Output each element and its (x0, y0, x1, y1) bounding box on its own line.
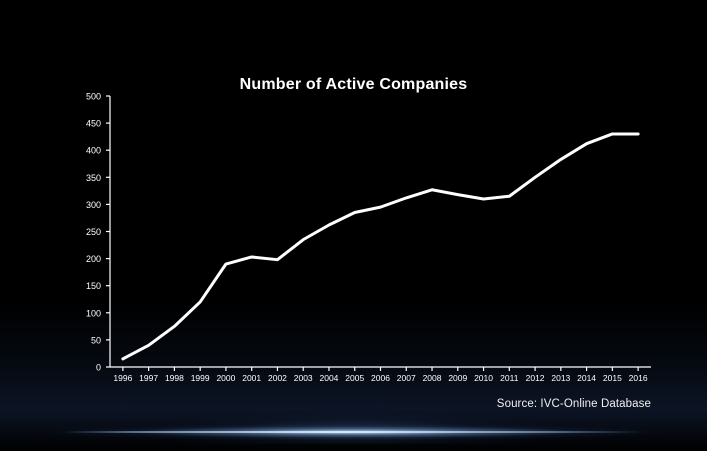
y-axis-tick-label: 50 (91, 335, 101, 345)
y-axis: 050100150200250300350400450500 (86, 92, 110, 373)
x-axis-tick-label: 1996 (113, 373, 132, 383)
x-axis: 1996199719981999200020012002200320042005… (110, 367, 651, 383)
x-axis-tick-label: 1998 (165, 373, 184, 383)
y-axis-tick-label: 250 (86, 227, 101, 237)
x-axis-tick-label: 2009 (448, 373, 467, 383)
slide-canvas: Number of Active Companies 0501001502002… (0, 0, 707, 451)
y-axis-tick-label: 100 (86, 308, 101, 318)
x-axis-tick-label: 2006 (371, 373, 390, 383)
series-line-active-companies (123, 134, 638, 359)
y-axis-tick-label: 450 (86, 119, 101, 129)
y-axis-tick-label: 150 (86, 281, 101, 291)
x-axis-tick-label: 2002 (268, 373, 287, 383)
x-axis-tick-label: 2011 (500, 373, 519, 383)
data-series-line (123, 134, 638, 359)
x-axis-tick-label: 2004 (320, 373, 339, 383)
x-axis-tick-label: 2001 (242, 373, 261, 383)
x-axis-tick-label: 2008 (423, 373, 442, 383)
x-axis-tick-label: 2003 (294, 373, 313, 383)
x-axis-tick-label: 2015 (603, 373, 622, 383)
y-axis-tick-label: 400 (86, 146, 101, 156)
x-axis-tick-label: 2005 (345, 373, 364, 383)
line-chart: 050100150200250300350400450500 199619971… (0, 0, 707, 451)
x-axis-tick-label: 1999 (191, 373, 210, 383)
y-axis-tick-label: 200 (86, 254, 101, 264)
x-axis-tick-label: 2016 (629, 373, 648, 383)
x-axis-tick-label: 2012 (526, 373, 545, 383)
x-axis-tick-label: 1997 (139, 373, 158, 383)
y-axis-tick-label: 0 (96, 363, 101, 373)
x-axis-tick-label: 2014 (577, 373, 596, 383)
x-axis-tick-label: 2013 (551, 373, 570, 383)
x-axis-tick-label: 2010 (474, 373, 493, 383)
source-note: Source: IVC-Online Database (497, 398, 651, 410)
x-axis-tick-label: 2007 (397, 373, 416, 383)
y-axis-tick-label: 350 (86, 173, 101, 183)
y-axis-tick-label: 500 (86, 92, 101, 102)
y-axis-tick-label: 300 (86, 200, 101, 210)
x-axis-tick-label: 2000 (216, 373, 235, 383)
